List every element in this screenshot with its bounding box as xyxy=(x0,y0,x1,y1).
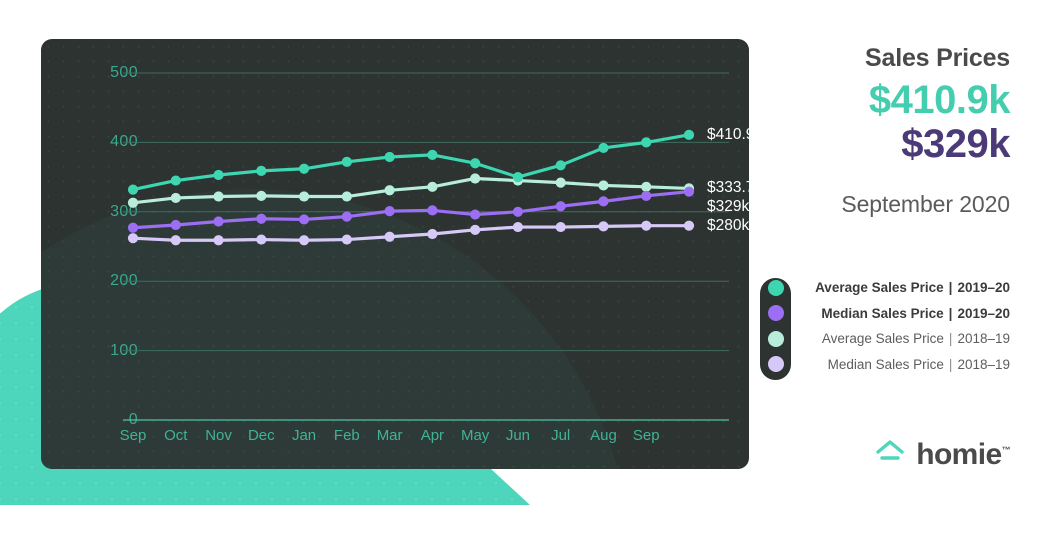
x-axis-tick-label: Jun xyxy=(506,427,530,444)
data-point-marker xyxy=(427,150,437,160)
data-point-marker xyxy=(299,164,309,174)
chart-panel: 0100200300400500 SepOctNovDecJanFebMarAp… xyxy=(41,39,749,469)
data-point-marker xyxy=(556,160,566,170)
average-price-value: $410.9k xyxy=(760,79,1010,121)
page-title: Sales Prices xyxy=(760,44,1010,73)
x-axis-tick-label: Jan xyxy=(292,427,316,444)
x-axis-tick-label: Oct xyxy=(164,427,187,444)
x-axis-tick-label: Sep xyxy=(633,427,660,444)
series-end-label: $329k xyxy=(707,198,749,216)
right-column: Sales Prices $410.9k $329k September 202… xyxy=(760,0,1060,510)
legend-color-dot xyxy=(768,305,784,321)
x-axis-tick-label: Apr xyxy=(421,427,444,444)
data-point-marker xyxy=(598,180,608,190)
logo-text: homie xyxy=(916,438,1001,471)
data-point-marker xyxy=(513,207,523,217)
data-point-marker xyxy=(470,225,480,235)
data-point-marker xyxy=(256,191,266,201)
legend-item[interactable]: Average Sales Price|2018–19 xyxy=(760,326,1010,352)
data-point-marker xyxy=(256,166,266,176)
series-end-label: $333.7k xyxy=(707,179,749,197)
legend-color-dot xyxy=(768,331,784,347)
data-point-marker xyxy=(171,175,181,185)
data-point-marker xyxy=(470,173,480,183)
legend-color-dot xyxy=(768,356,784,372)
data-point-marker xyxy=(556,222,566,232)
data-point-marker xyxy=(684,221,694,231)
data-point-marker xyxy=(513,222,523,232)
data-point-marker xyxy=(641,137,651,147)
data-point-marker xyxy=(598,221,608,231)
data-point-marker xyxy=(470,158,480,168)
series-end-label: $410.9k xyxy=(707,126,749,144)
data-point-marker xyxy=(684,187,694,197)
data-point-marker xyxy=(385,185,395,195)
data-point-marker xyxy=(213,216,223,226)
x-axis-tick-label: Mar xyxy=(377,427,403,444)
x-axis-tick-label: Dec xyxy=(248,427,275,444)
x-axis-tick-label: Feb xyxy=(334,427,360,444)
legend-item[interactable]: Median Sales Price|2018–19 xyxy=(760,352,1010,378)
data-point-marker xyxy=(256,234,266,244)
data-point-marker xyxy=(641,191,651,201)
data-point-marker xyxy=(385,206,395,216)
x-axis-tick-label: Aug xyxy=(590,427,617,444)
data-point-marker xyxy=(171,220,181,230)
data-point-marker xyxy=(128,184,138,194)
data-point-marker xyxy=(256,214,266,224)
report-date: September 2020 xyxy=(760,191,1010,218)
data-point-marker xyxy=(171,235,181,245)
data-point-marker xyxy=(299,214,309,224)
data-point-marker xyxy=(299,191,309,201)
data-point-marker xyxy=(598,143,608,153)
logo-wordmark: homie™ xyxy=(916,438,1010,472)
data-point-marker xyxy=(427,182,437,192)
data-point-marker xyxy=(427,205,437,215)
legend-item[interactable]: Average Sales Price|2019–20 xyxy=(760,275,1010,301)
house-roof-icon xyxy=(874,437,906,472)
data-point-marker xyxy=(342,212,352,222)
data-point-marker xyxy=(556,201,566,211)
data-point-marker xyxy=(470,209,480,219)
data-point-marker xyxy=(213,191,223,201)
legend-color-dot xyxy=(768,280,784,296)
data-point-marker xyxy=(342,191,352,201)
data-point-marker xyxy=(385,152,395,162)
data-point-marker xyxy=(342,157,352,167)
data-point-marker xyxy=(171,193,181,203)
data-point-marker xyxy=(299,235,309,245)
data-point-marker xyxy=(427,229,437,239)
series-end-label: $280k xyxy=(707,217,749,235)
data-point-marker xyxy=(513,172,523,182)
legend-item[interactable]: Median Sales Price|2019–20 xyxy=(760,301,1010,327)
data-point-marker xyxy=(128,233,138,243)
legend-label: Median Sales Price|2018–19 xyxy=(828,357,1010,372)
data-point-marker xyxy=(128,198,138,208)
data-point-marker xyxy=(213,235,223,245)
data-point-marker xyxy=(556,178,566,188)
x-axis-tick-label: May xyxy=(461,427,489,444)
data-point-marker xyxy=(213,170,223,180)
x-axis-tick-label: Jul xyxy=(551,427,570,444)
line-chart-plot xyxy=(41,39,749,469)
data-point-marker xyxy=(385,232,395,242)
legend-label: Average Sales Price|2019–20 xyxy=(815,280,1010,295)
trademark-symbol: ™ xyxy=(1002,445,1010,455)
data-point-marker xyxy=(342,234,352,244)
data-point-marker xyxy=(598,196,608,206)
legend-label: Average Sales Price|2018–19 xyxy=(822,331,1010,346)
data-point-marker xyxy=(128,223,138,233)
x-axis-tick-label: Nov xyxy=(205,427,232,444)
data-point-marker xyxy=(641,221,651,231)
data-point-marker xyxy=(684,130,694,140)
data-point-marker xyxy=(641,182,651,192)
x-axis-tick-label: Sep xyxy=(120,427,147,444)
legend-label: Median Sales Price|2019–20 xyxy=(821,306,1010,321)
median-price-value: $329k xyxy=(760,123,1010,165)
infographic-root: 0100200300400500 SepOctNovDecJanFebMarAp… xyxy=(0,0,1060,510)
brand-logo: homie™ xyxy=(874,437,1010,472)
